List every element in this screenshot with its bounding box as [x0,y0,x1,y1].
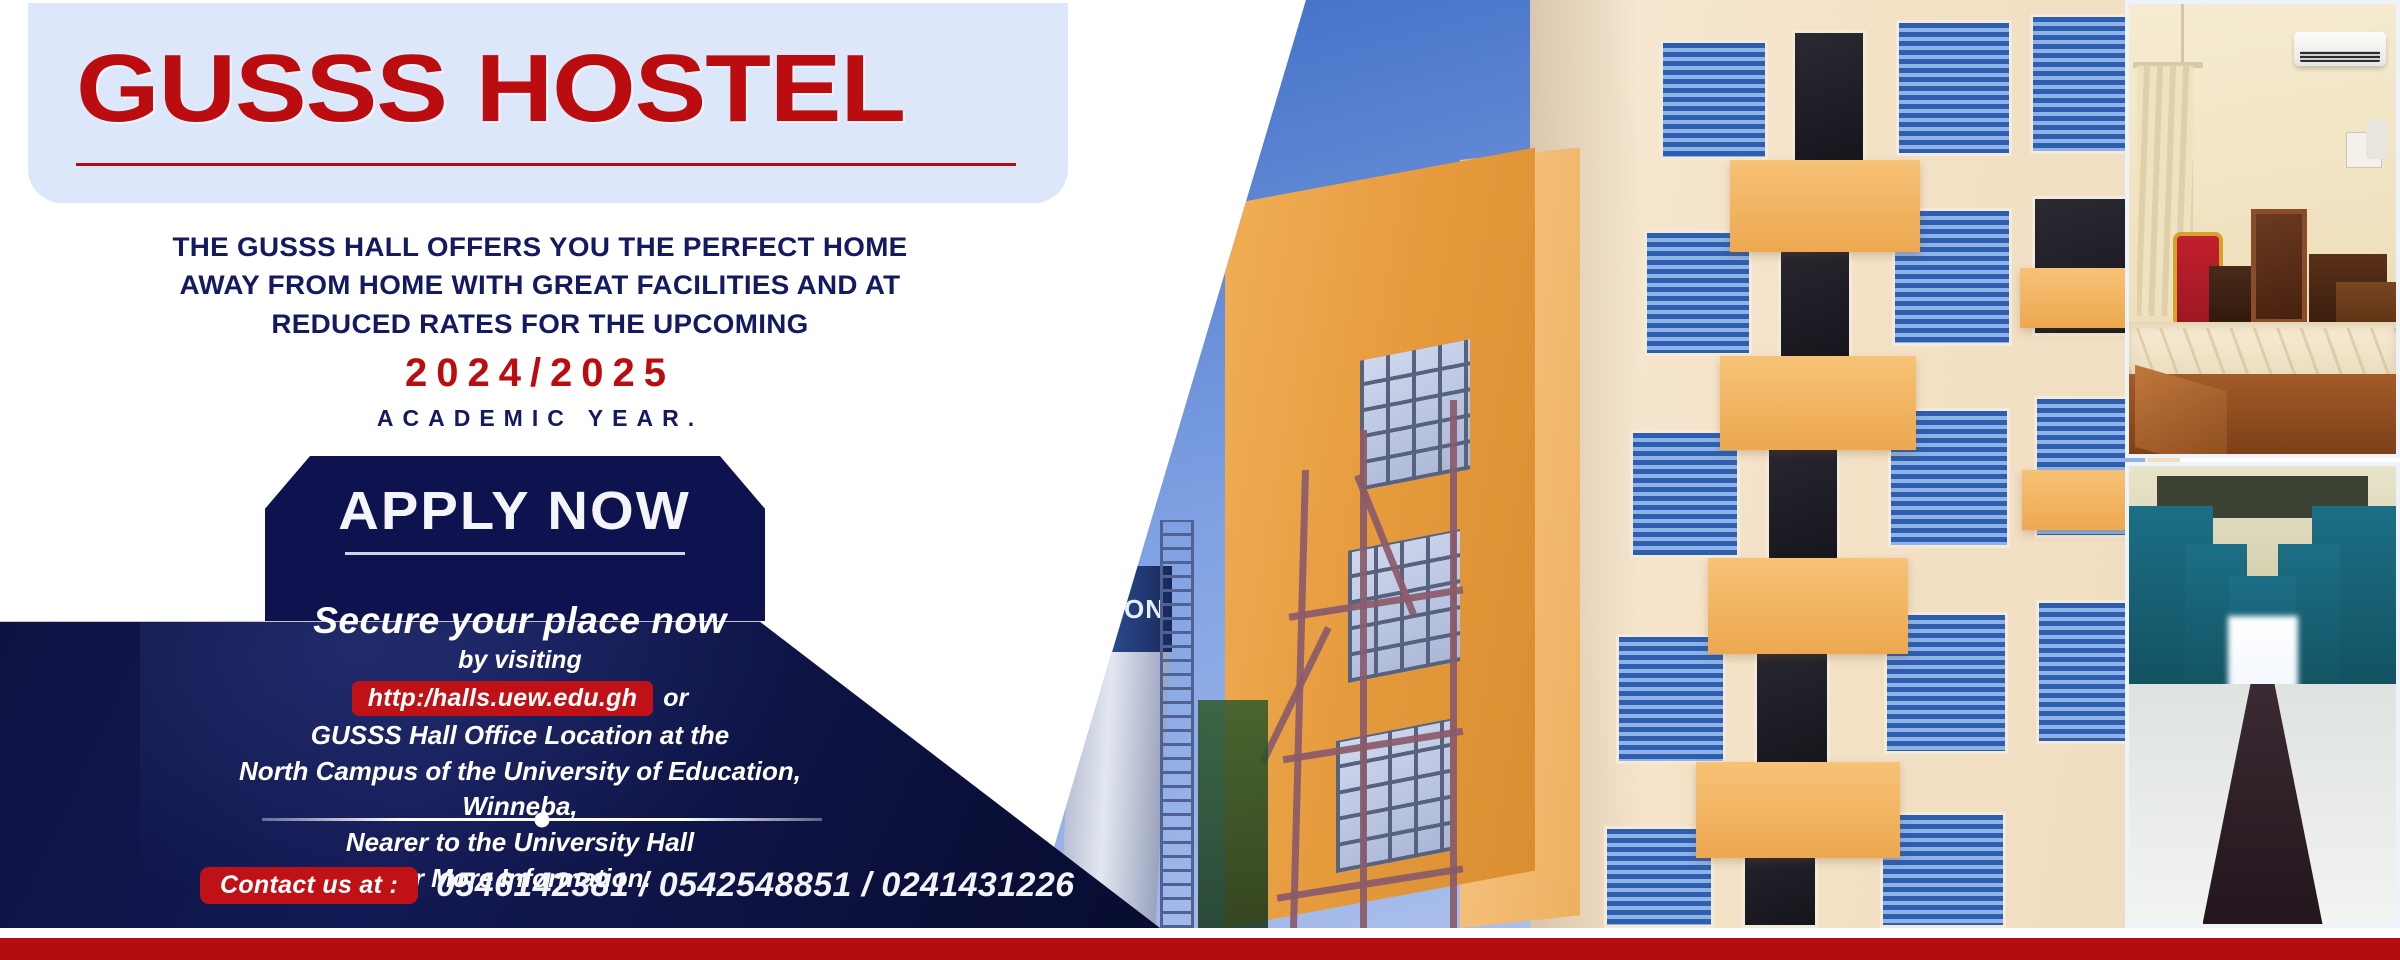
apply-now-underline [345,552,685,555]
pitch-line-2: AWAY FROM HOME WITH GREAT FACILITIES AND… [87,266,993,304]
air-conditioner-icon [2294,32,2386,66]
silo-chimney [1090,512,1130,572]
url-row: http:/halls.uew.edu.gh or [180,681,860,716]
contact-row: Contact us at : 0546142381 / 0542548851 … [200,866,1074,905]
page-title: GUSSS HOSTEL [76,41,905,137]
contact-phone-numbers[interactable]: 0546142381 / 0542548851 / 0241431226 [436,866,1074,905]
thumbnail-corridor [2125,462,2400,928]
photo-collage: ELKON [1030,0,2400,928]
pitch-line-3: REDUCED RATES FOR THE UPCOMING [87,305,993,343]
mirror-panel [2251,209,2307,324]
bed-frame [2129,374,2396,454]
academic-year-value: 2024/2025 [100,351,980,395]
gusss-hostel-promo-banner: ELKON [0,0,2400,960]
apply-now-banner[interactable]: APPLY NOW [265,456,765,621]
window-dark [1792,30,1866,170]
window [1660,40,1768,160]
secure-heading: Secure your place now [180,600,860,642]
secure-place-block: Secure your place now by visiting http:/… [180,600,860,896]
balcony-band [1696,762,1900,858]
foliage [1198,700,1268,928]
title-block: GUSSS HOSTEL [28,3,1068,203]
water-heater [2366,119,2388,159]
or-label: or [663,684,688,713]
hostel-building-photo: ELKON [1030,0,2180,928]
silo-ladder [1160,520,1194,928]
balcony-band [1730,160,1920,252]
application-url-link[interactable]: http:/halls.uew.edu.gh [352,681,654,716]
section-divider [262,818,822,821]
address-line-2: North Campus of the University of Educat… [180,754,860,823]
balcony-band [1720,356,1916,450]
pitch-line-1: THE GUSSS HALL OFFERS YOU THE PERFECT HO… [87,228,993,266]
apply-now-label: APPLY NOW [339,484,692,538]
contact-label-badge: Contact us at : [200,867,418,904]
address-line-1: GUSSS Hall Office Location at the [180,718,860,752]
balcony-band [1708,558,1908,654]
bottom-white-strip [0,928,2400,938]
address-line-3: Nearer to the University Hall [180,825,860,859]
academic-year-label: ACADEMIC YEAR. [100,405,980,432]
elkon-label: ELKON [1069,594,1165,625]
title-underline-rule [76,163,1016,166]
by-visiting-label: by visiting [180,646,860,675]
thumbnail-hostel-room [2125,0,2400,458]
window [1896,20,2012,156]
scaffolding-post [1450,400,1457,928]
mattress [2129,322,2396,380]
divider-dot-icon [535,812,550,827]
bottom-red-bar [0,938,2400,960]
pitch-text-block: THE GUSSS HALL OFFERS YOU THE PERFECT HO… [100,228,980,432]
elkon-silo-sign: ELKON [1062,566,1172,652]
